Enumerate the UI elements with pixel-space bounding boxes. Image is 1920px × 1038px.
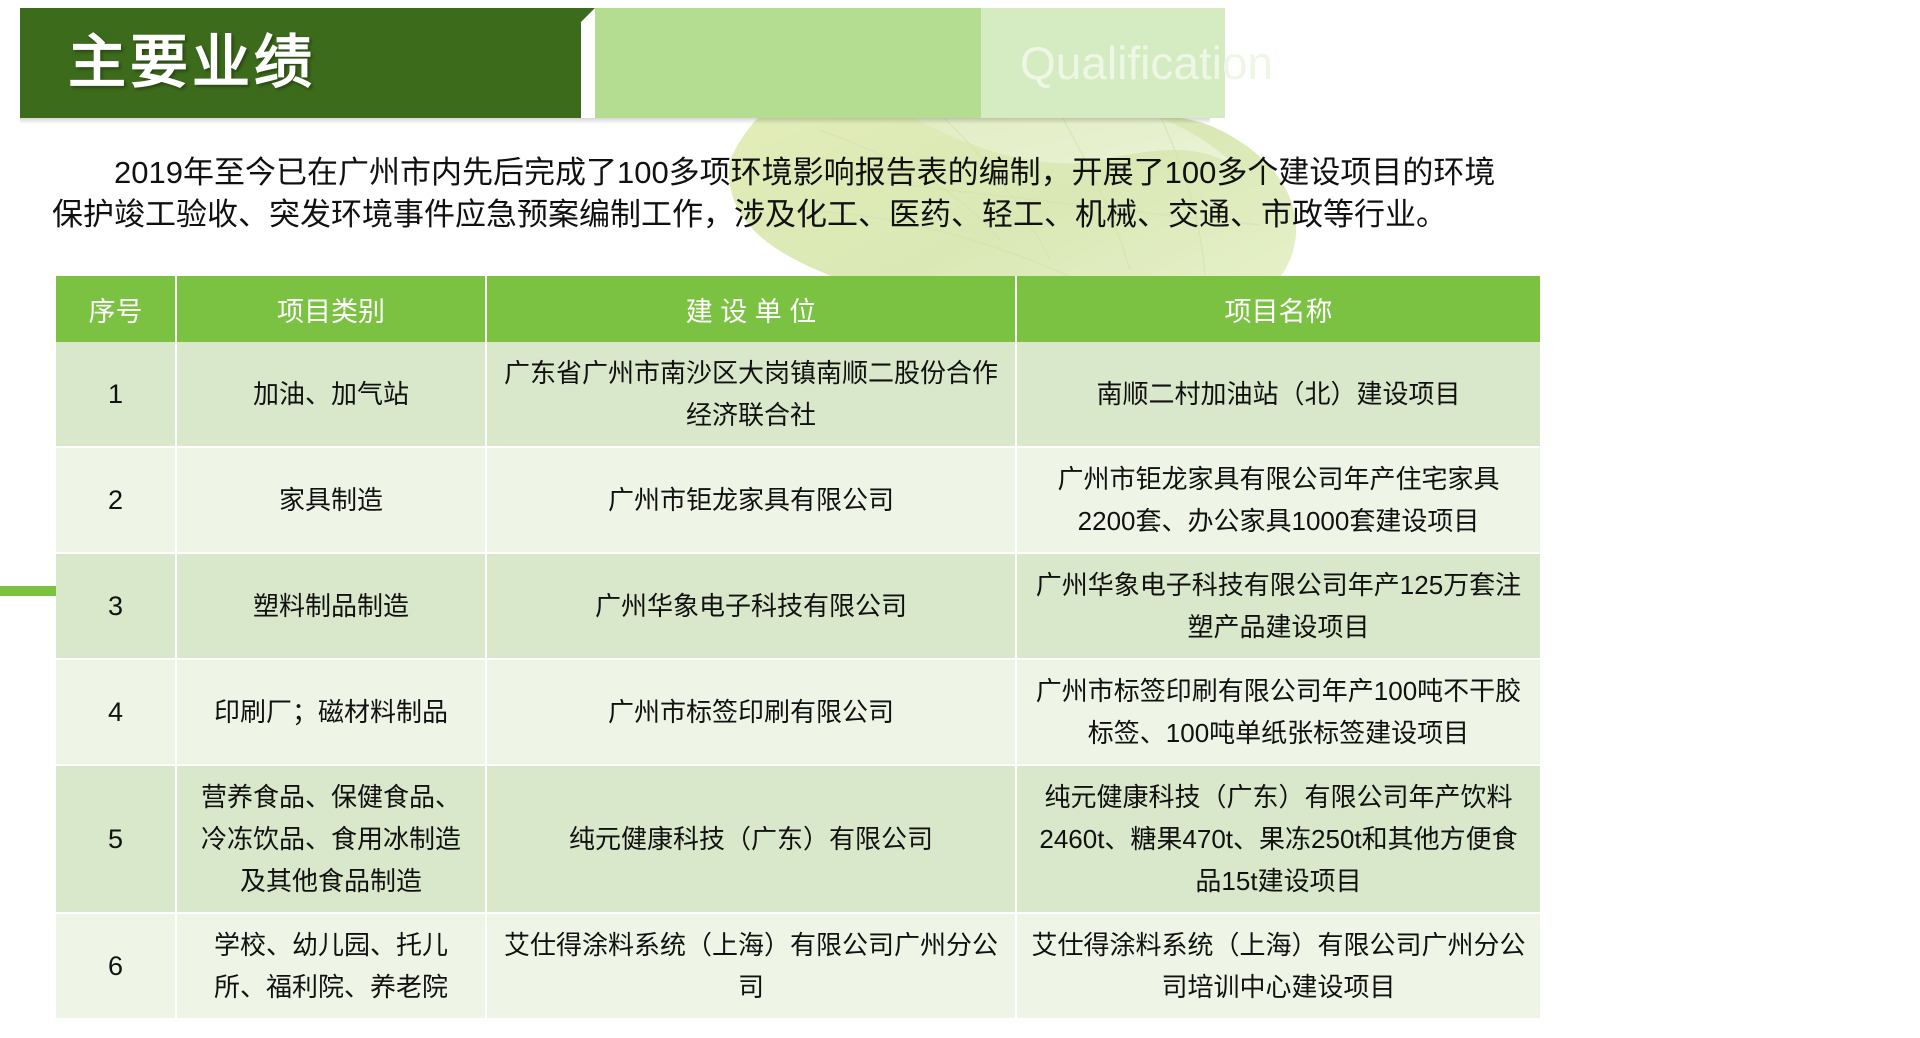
- intro-line-2: 保护竣工验收、突发环境事件应急预案编制工作，涉及化工、医药、轻工、机械、交通、市…: [52, 194, 1532, 236]
- cell-unit: 纯元健康科技（广东）有限公司: [486, 765, 1016, 913]
- cell-category: 学校、幼儿园、托儿所、福利院、养老院: [176, 913, 486, 1019]
- cell-project: 南顺二村加油站（北）建设项目: [1016, 342, 1540, 447]
- cell-no: 3: [56, 553, 176, 659]
- cell-unit: 广东省广州市南沙区大岗镇南顺二股份合作经济联合社: [486, 342, 1016, 447]
- page-title: 主要业绩: [68, 34, 316, 92]
- table-row: 1 加油、加气站 广东省广州市南沙区大岗镇南顺二股份合作经济联合社 南顺二村加油…: [56, 342, 1540, 447]
- table-row: 4 印刷厂；磁材料制品 广州市标签印刷有限公司 广州市标签印刷有限公司年产100…: [56, 659, 1540, 765]
- table-row: 6 学校、幼儿园、托儿所、福利院、养老院 艾仕得涂料系统（上海）有限公司广州分公…: [56, 913, 1540, 1019]
- cell-no: 1: [56, 342, 176, 447]
- cell-category: 营养食品、保健食品、冷冻饮品、食用冰制造及其他食品制造: [176, 765, 486, 913]
- table-row: 5 营养食品、保健食品、冷冻饮品、食用冰制造及其他食品制造 纯元健康科技（广东）…: [56, 765, 1540, 913]
- intro-paragraph: 2019年至今已在广州市内先后完成了100多项环境影响报告表的编制，开展了100…: [52, 152, 1532, 236]
- cell-unit: 广州市钜龙家具有限公司: [486, 447, 1016, 553]
- table-row: 3 塑料制品制造 广州华象电子科技有限公司 广州华象电子科技有限公司年产125万…: [56, 553, 1540, 659]
- cell-unit: 艾仕得涂料系统（上海）有限公司广州分公司: [486, 913, 1016, 1019]
- col-header-category: 项目类别: [176, 276, 486, 342]
- header-banner: 主要业绩 Qualification: [20, 8, 1225, 118]
- cell-project: 艾仕得涂料系统（上海）有限公司广州分公司培训中心建设项目: [1016, 913, 1540, 1019]
- cell-no: 2: [56, 447, 176, 553]
- table-row: 2 家具制造 广州市钜龙家具有限公司 广州市钜龙家具有限公司年产住宅家具2200…: [56, 447, 1540, 553]
- table-header-row: 序号 项目类别 建 设 单 位 项目名称: [56, 276, 1540, 342]
- banner-band-mid: [595, 8, 995, 118]
- cell-no: 4: [56, 659, 176, 765]
- left-accent-marker: [0, 586, 56, 596]
- col-header-unit: 建 设 单 位: [486, 276, 1016, 342]
- page-subtitle: Qualification: [1020, 40, 1273, 86]
- cell-no: 6: [56, 913, 176, 1019]
- cell-project: 广州华象电子科技有限公司年产125万套注塑产品建设项目: [1016, 553, 1540, 659]
- cell-category: 塑料制品制造: [176, 553, 486, 659]
- performance-table-wrapper: 序号 项目类别 建 设 单 位 项目名称 1 加油、加气站 广东省广州市南沙区大…: [56, 276, 1540, 1020]
- col-header-project: 项目名称: [1016, 276, 1540, 342]
- col-header-no: 序号: [56, 276, 176, 342]
- performance-table: 序号 项目类别 建 设 单 位 项目名称 1 加油、加气站 广东省广州市南沙区大…: [56, 276, 1540, 1020]
- cell-unit: 广州华象电子科技有限公司: [486, 553, 1016, 659]
- cell-category: 家具制造: [176, 447, 486, 553]
- cell-category: 印刷厂；磁材料制品: [176, 659, 486, 765]
- cell-project: 广州市钜龙家具有限公司年产住宅家具2200套、办公家具1000套建设项目: [1016, 447, 1540, 553]
- cell-unit: 广州市标签印刷有限公司: [486, 659, 1016, 765]
- cell-project: 纯元健康科技（广东）有限公司年产饮料2460t、糖果470t、果冻250t和其他…: [1016, 765, 1540, 913]
- cell-project: 广州市标签印刷有限公司年产100吨不干胶标签、100吨单纸张标签建设项目: [1016, 659, 1540, 765]
- intro-line-1: 2019年至今已在广州市内先后完成了100多项环境影响报告表的编制，开展了100…: [52, 152, 1532, 194]
- banner-shadow: [20, 118, 1210, 124]
- cell-no: 5: [56, 765, 176, 913]
- cell-category: 加油、加气站: [176, 342, 486, 447]
